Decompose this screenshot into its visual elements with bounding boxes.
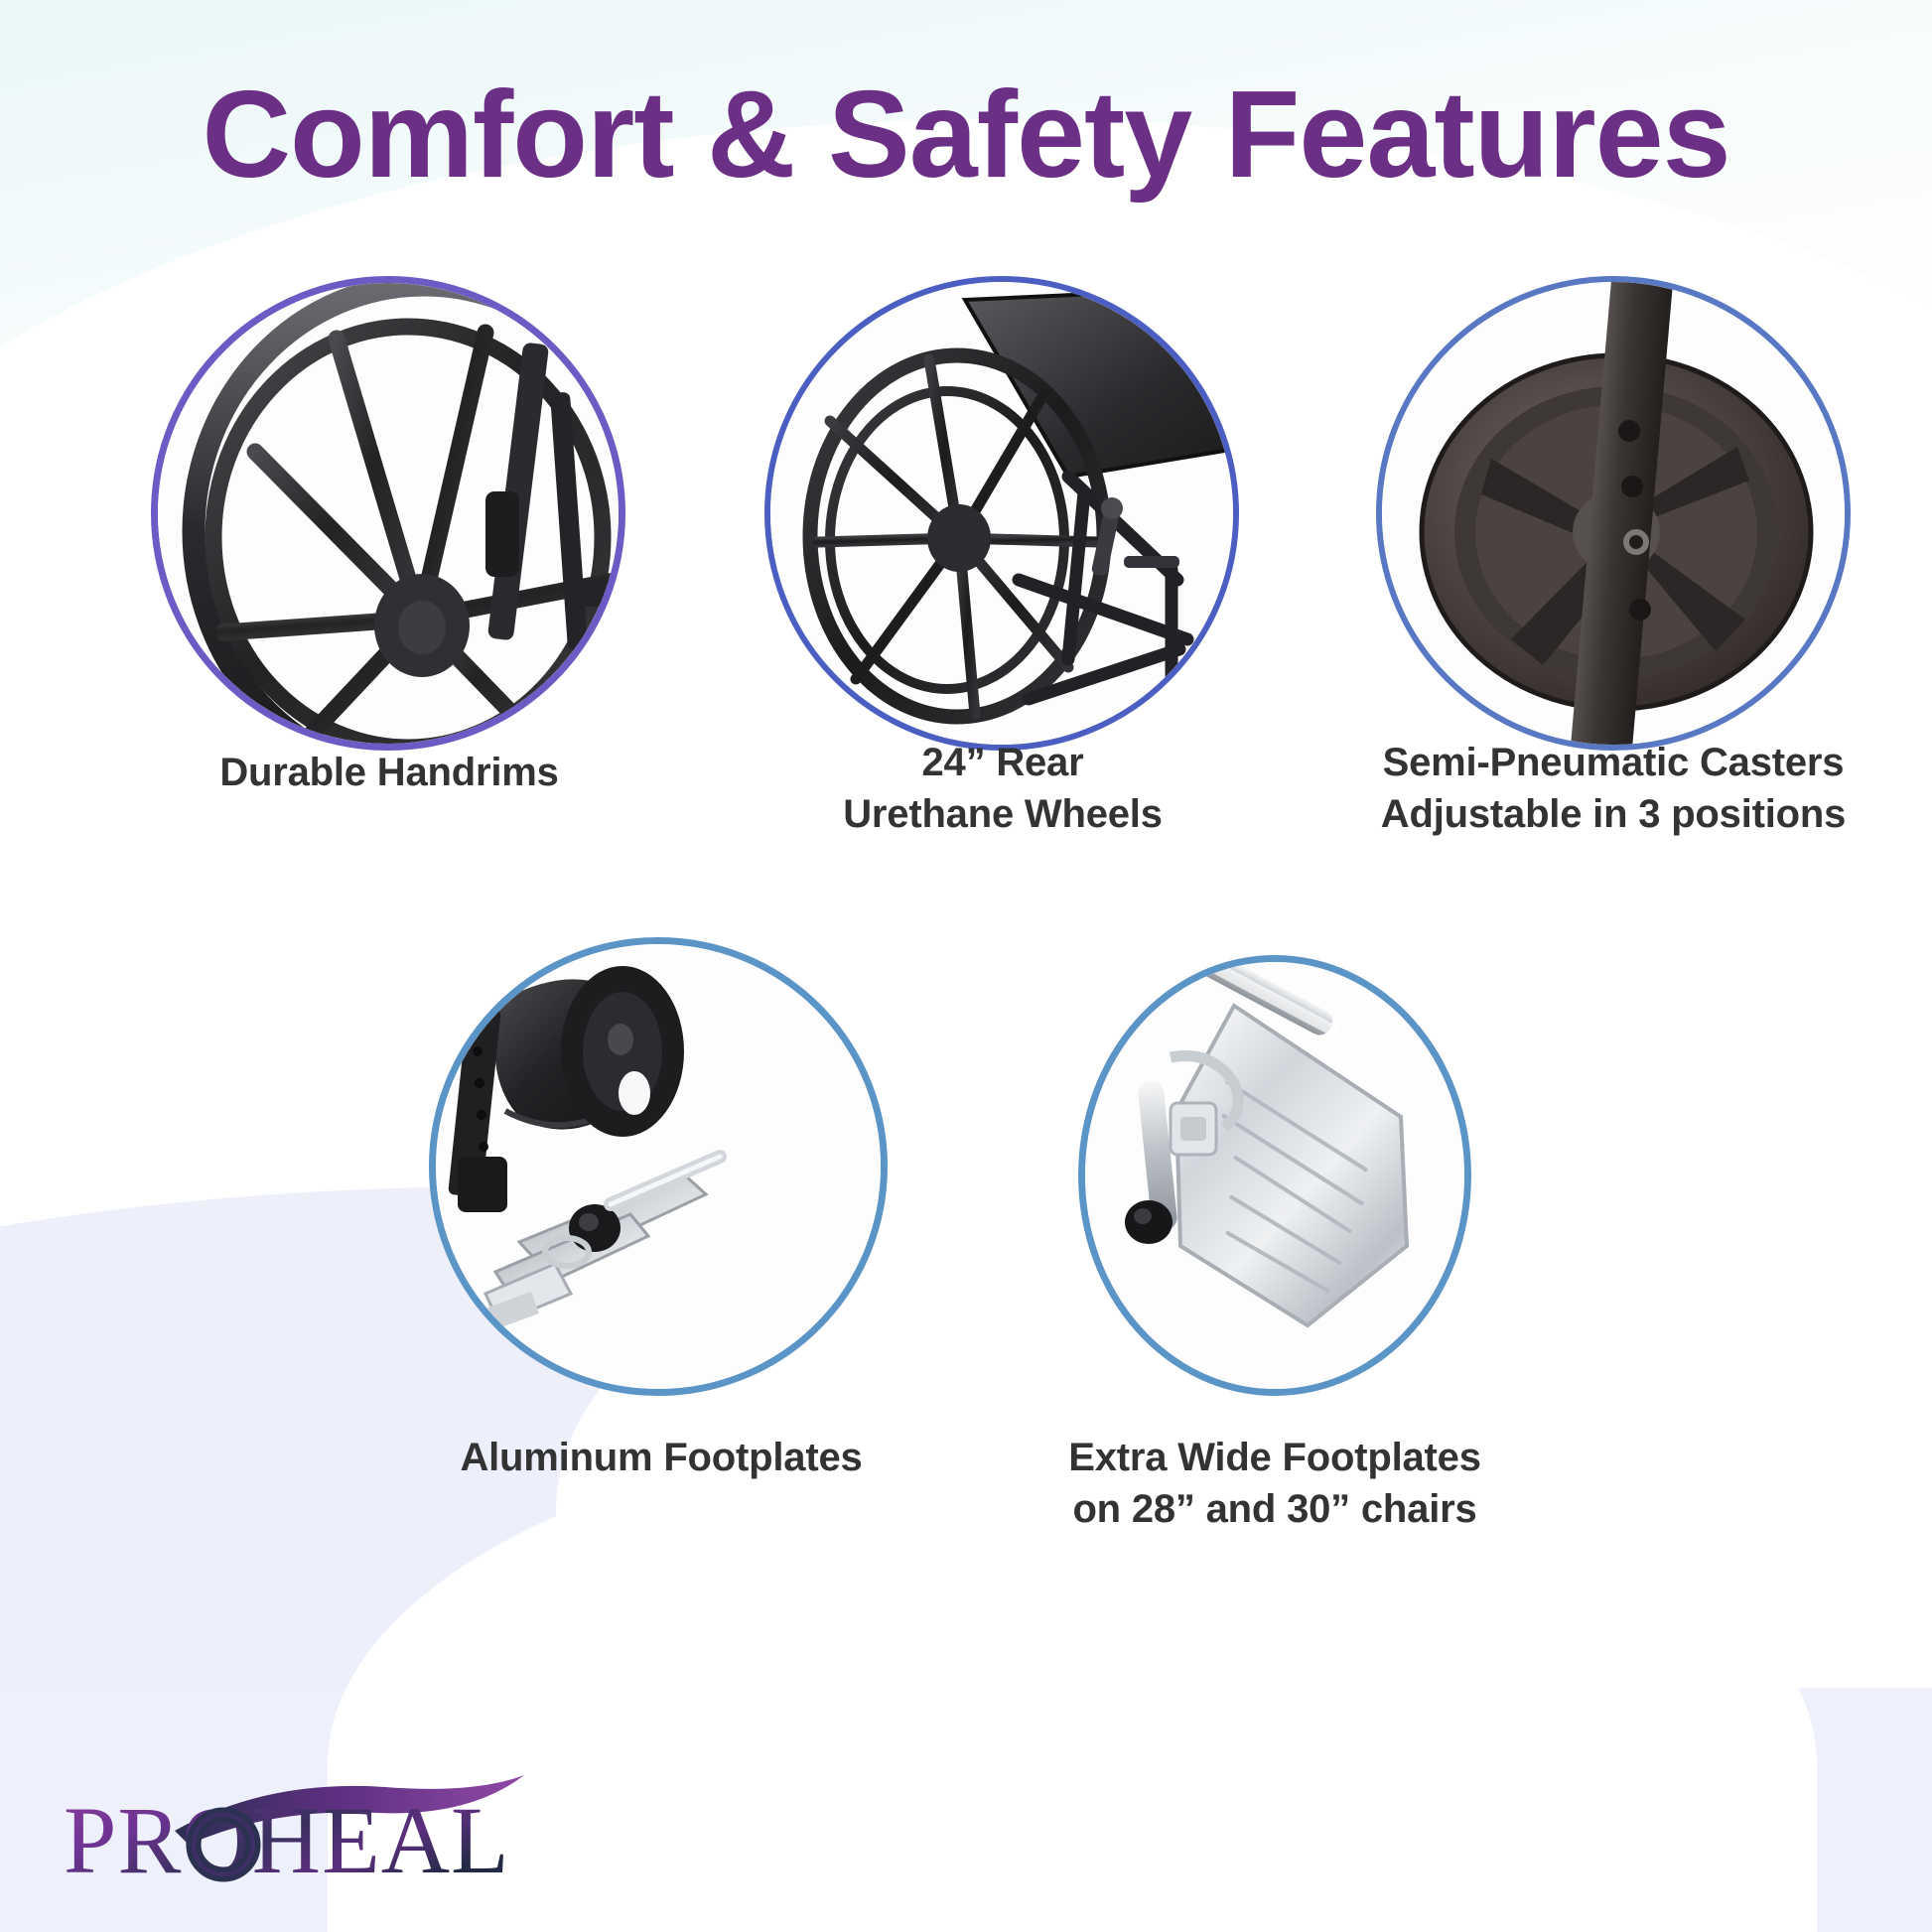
poster-canvas: Comfort & Safety Features — [0, 0, 1932, 1932]
photo-handrim-wheel — [158, 283, 619, 744]
feature-image-extra-wide-footplates — [1078, 955, 1471, 1396]
proheal-logo: PROHEAL — [58, 1773, 554, 1912]
feature-image-semi-pneumatic-casters — [1376, 276, 1851, 751]
photo-caster-wheel — [1382, 282, 1845, 745]
feature-caption-rear-urethane-wheels: 24” Rear Urethane Wheels — [735, 737, 1271, 840]
photo-aluminum-footplate — [436, 944, 881, 1389]
photo-rear-wheel — [770, 282, 1233, 745]
feature-caption-aluminum-footplates: Aluminum Footplates — [367, 1432, 955, 1483]
feature-image-aluminum-footplates — [429, 937, 888, 1396]
feature-caption-semi-pneumatic-casters: Semi-Pneumatic Casters Adjustable in 3 p… — [1283, 737, 1932, 840]
feature-caption-extra-wide-footplates: Extra Wide Footplates on 28” and 30” cha… — [941, 1432, 1608, 1535]
feature-image-durable-handrims — [151, 276, 625, 751]
page-title: Comfort & Safety Features — [0, 73, 1932, 197]
feature-image-rear-urethane-wheels — [764, 276, 1239, 751]
logo-wordmark: PROHEAL — [64, 1787, 510, 1893]
photo-extra-wide-footplate — [1085, 962, 1464, 1389]
feature-caption-durable-handrims: Durable Handrims — [99, 747, 679, 798]
